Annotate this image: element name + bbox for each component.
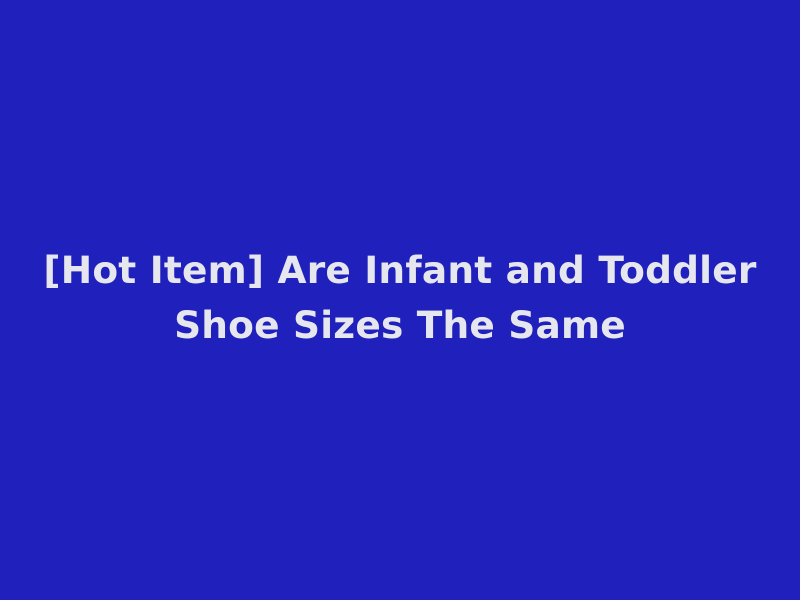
page-title-line-2: Shoe Sizes The Same (0, 298, 800, 353)
page-title-line-1: [Hot Item] Are Infant and Toddler (0, 243, 800, 298)
page-title: [Hot Item] Are Infant and Toddler Shoe S… (0, 243, 800, 353)
slide-canvas: [Hot Item] Are Infant and Toddler Shoe S… (0, 0, 800, 600)
